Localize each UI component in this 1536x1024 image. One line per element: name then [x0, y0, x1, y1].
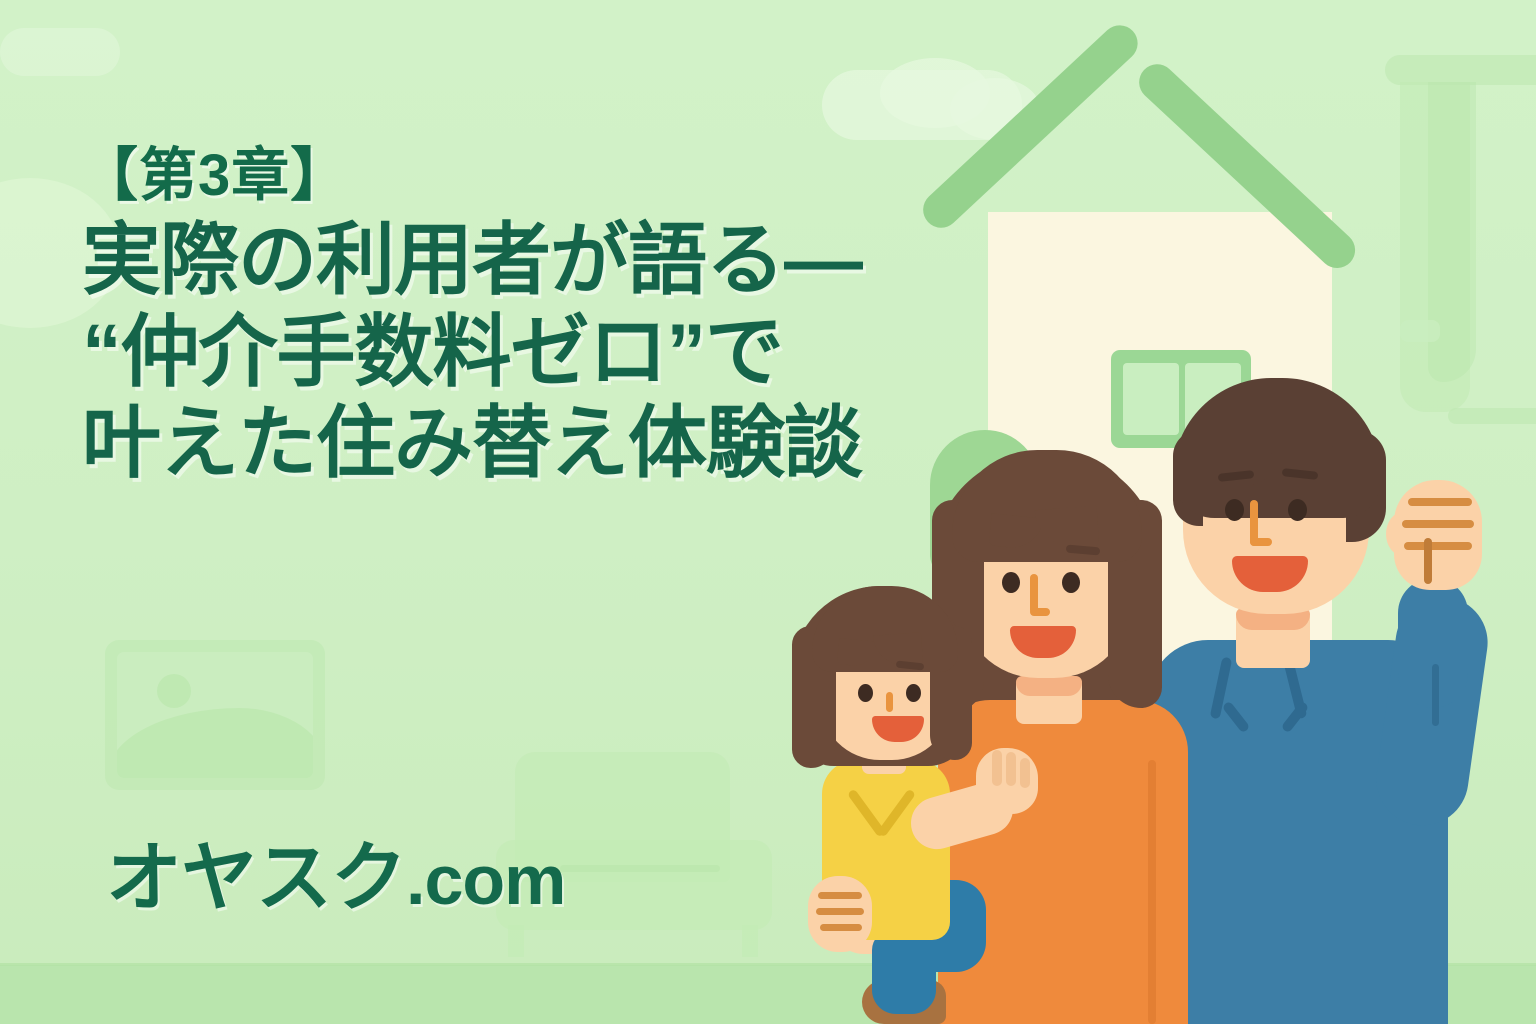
logo-kana: オヤスク — [106, 836, 406, 921]
page-title: 実際の利用者が語る— “仲介手数料ゼロ”で 叶えた住み替え体験談 — [82, 214, 982, 489]
site-logo[interactable]: オヤスク.com — [106, 816, 565, 926]
logo-domain: .com — [406, 841, 565, 919]
title-line-2: “仲介手数料ゼロ”で — [82, 306, 982, 398]
title-line-1: 実際の利用者が語る— — [82, 214, 982, 306]
text-layer: 【第3章】 実際の利用者が語る— “仲介手数料ゼロ”で 叶えた住み替え体験談 オ… — [0, 0, 1536, 1024]
banner-canvas: 【第3章】 実際の利用者が語る— “仲介手数料ゼロ”で 叶えた住み替え体験談 オ… — [0, 0, 1536, 1024]
chapter-label: 【第3章】 — [80, 128, 349, 212]
title-line-3: 叶えた住み替え体験談 — [82, 397, 982, 489]
